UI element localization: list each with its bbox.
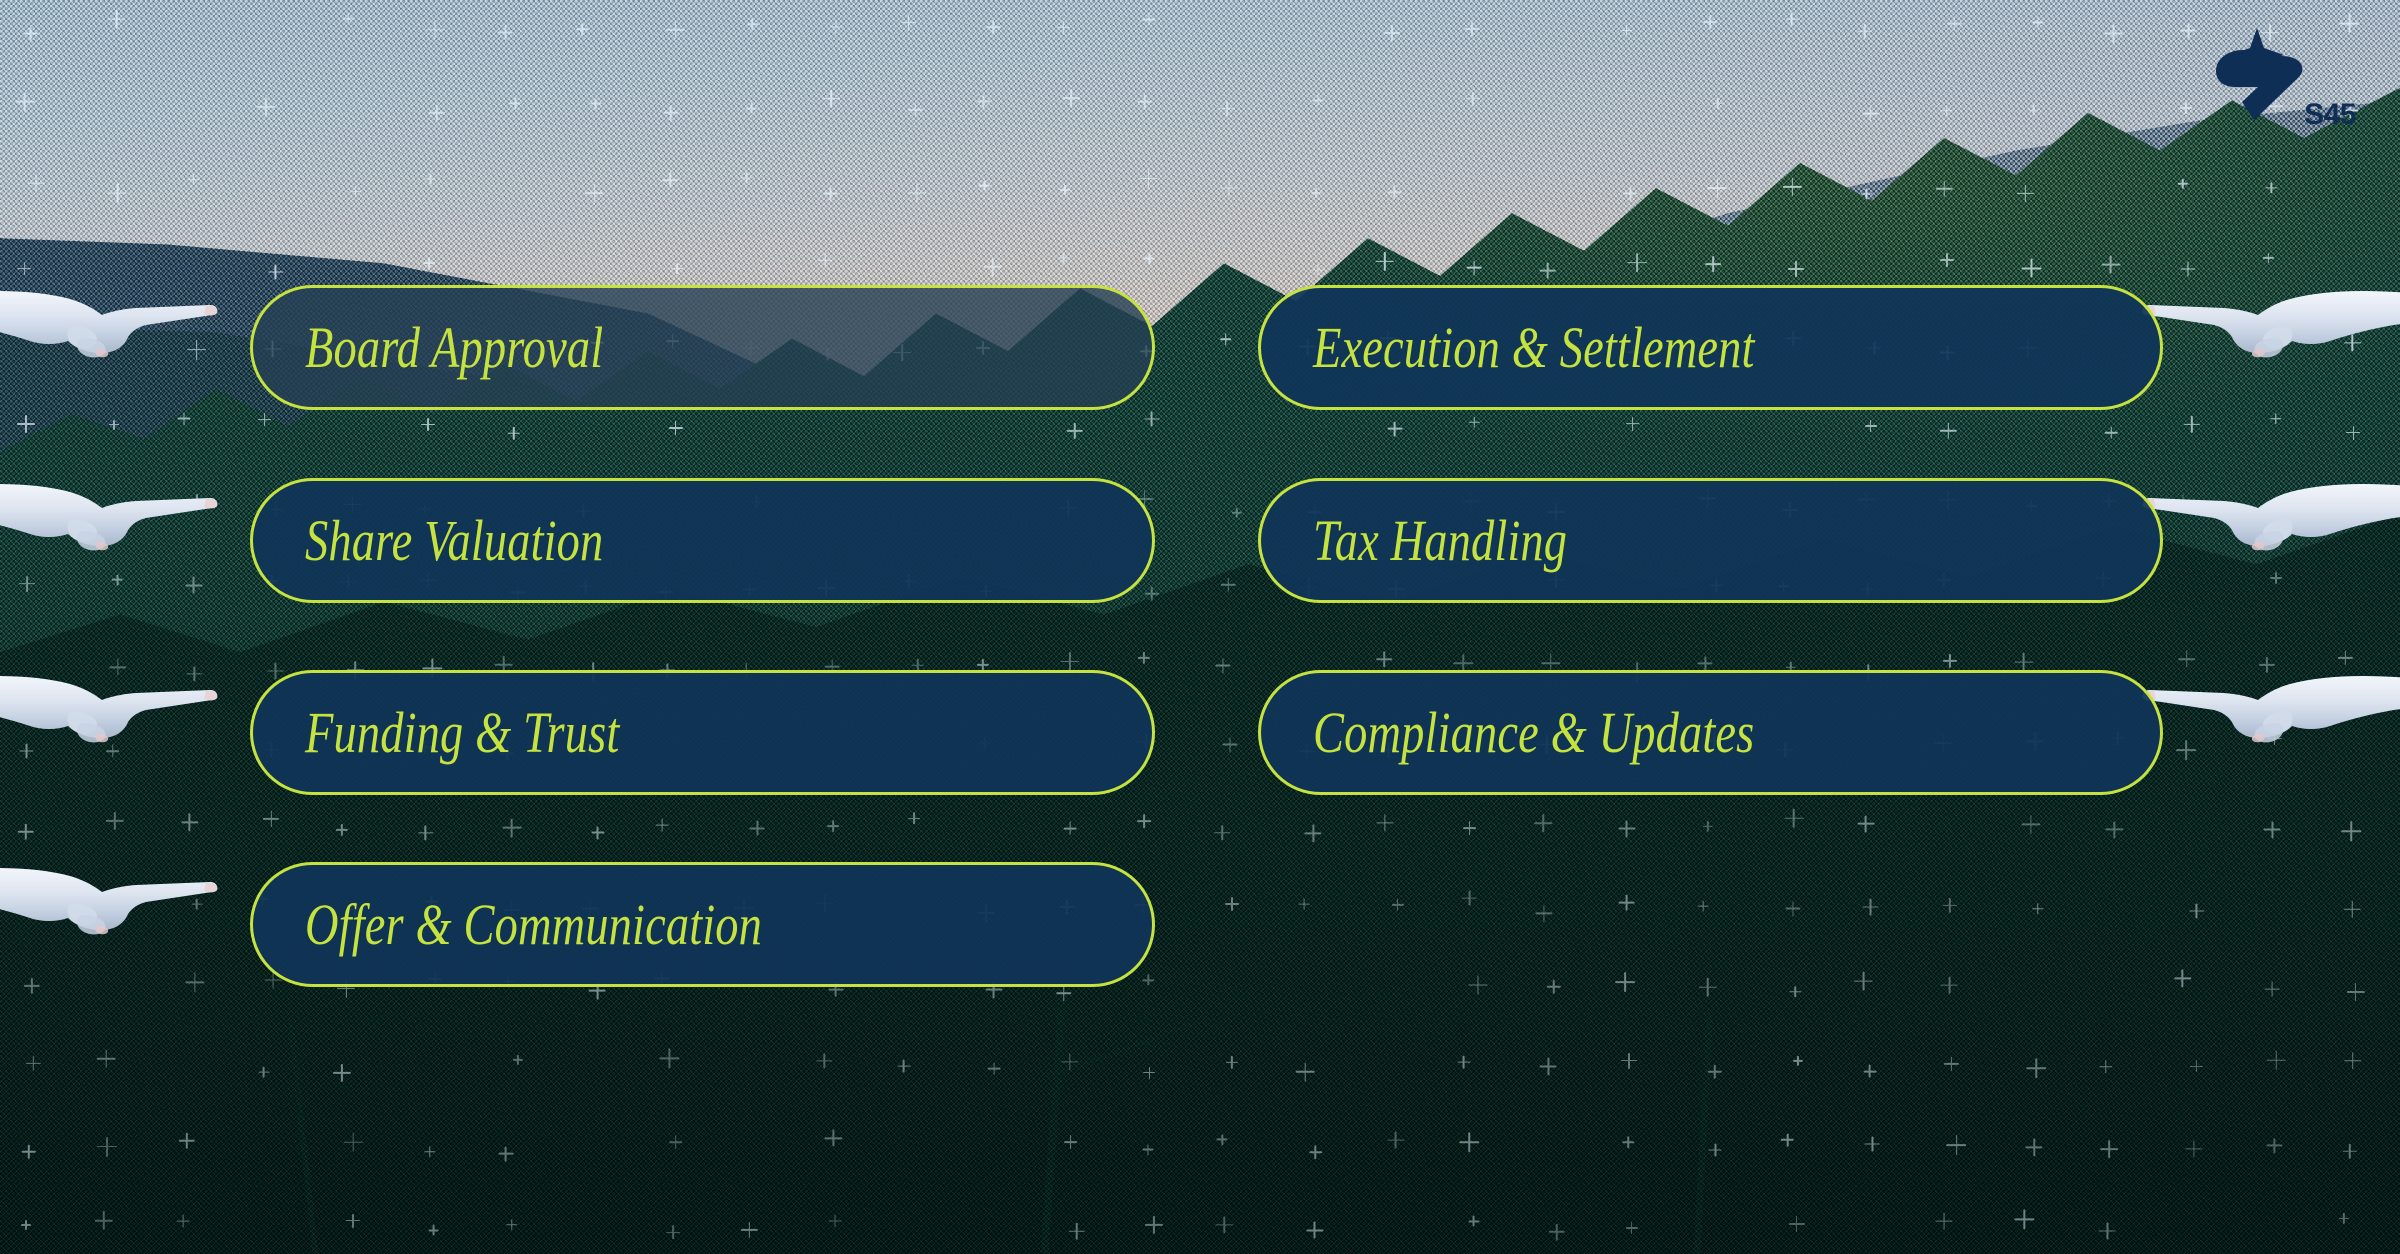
pill-button-execution-settlement[interactable]: Execution & Settlement bbox=[1258, 285, 2163, 410]
brand-logo[interactable]: S45 bbox=[2202, 26, 2352, 136]
slide-canvas: Board ApprovalShare ValuationFunding & T… bbox=[0, 0, 2400, 1254]
pill-label: Offer & Communication bbox=[305, 896, 762, 954]
swoosh-shape bbox=[2216, 50, 2302, 120]
pill-label: Compliance & Updates bbox=[1313, 704, 1754, 762]
pill-button-offer-communication[interactable]: Offer & Communication bbox=[250, 862, 1155, 987]
pill-buttons-group: Board ApprovalShare ValuationFunding & T… bbox=[0, 0, 2400, 1254]
pill-button-compliance-updates[interactable]: Compliance & Updates bbox=[1258, 670, 2163, 795]
pill-button-board-approval[interactable]: Board Approval bbox=[250, 285, 1155, 410]
pill-label: Funding & Trust bbox=[305, 704, 619, 762]
pill-label: Board Approval bbox=[305, 319, 603, 377]
pill-label: Execution & Settlement bbox=[1313, 319, 1755, 377]
s45-swoosh-star-logo bbox=[2202, 26, 2310, 122]
logo-wordmark: S45 bbox=[2304, 98, 2356, 132]
pill-button-tax-handling[interactable]: Tax Handling bbox=[1258, 478, 2163, 603]
pill-label: Tax Handling bbox=[1313, 512, 1567, 570]
pill-button-funding-trust[interactable]: Funding & Trust bbox=[250, 670, 1155, 795]
pill-label: Share Valuation bbox=[305, 512, 603, 570]
pill-button-share-valuation[interactable]: Share Valuation bbox=[250, 478, 1155, 603]
